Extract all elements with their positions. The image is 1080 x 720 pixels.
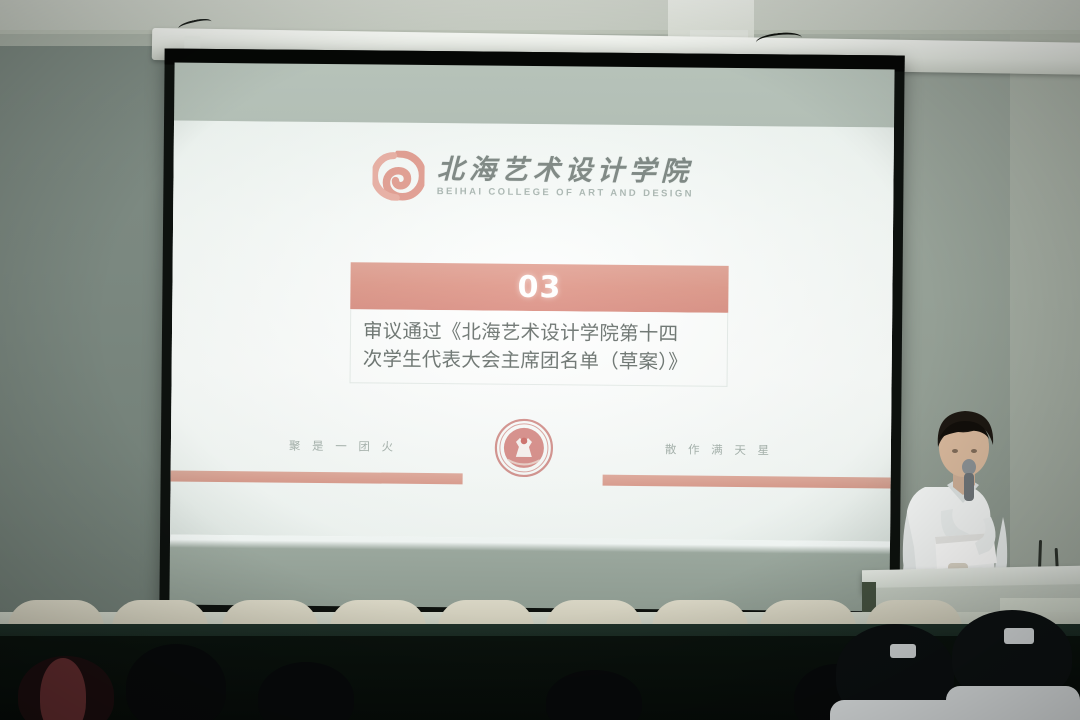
audience-shirt: [946, 686, 1080, 720]
audience-head: [258, 662, 354, 720]
section-title-text: 审议通过《北海艺术设计学院第十四 次学生代表大会主席团名单（草案）》: [363, 317, 716, 376]
audience-head: [546, 670, 642, 720]
section-number-bar: 03: [350, 262, 728, 313]
hair-clip-icon: [890, 644, 916, 658]
footer-accent-bar-left: [171, 471, 463, 485]
section-number: 03: [517, 270, 561, 305]
beihai-swirl-logo-icon: [373, 150, 425, 200]
hair-clip-icon: [1004, 628, 1034, 644]
section-title-box: 审议通过《北海艺术设计学院第十四 次学生代表大会主席团名单（草案）》: [350, 309, 729, 387]
wall-left: [0, 0, 175, 660]
footer-accent-bar-right: [603, 475, 891, 489]
audience-shirt: [830, 700, 960, 720]
projection-screen: 北海艺术设计学院 BEIHAI COLLEGE OF ART AND DESIG…: [159, 48, 904, 621]
school-logo: 北海艺术设计学院 BEIHAI COLLEGE OF ART AND DESIG…: [173, 149, 893, 206]
logo-english-name: BEIHAI COLLEGE OF ART AND DESIGN: [437, 186, 694, 199]
audience-head: [126, 644, 226, 720]
footer-slogan-right: 散 作 满 天 星: [665, 441, 773, 458]
logo-text: 北海艺术设计学院 BEIHAI COLLEGE OF ART AND DESIG…: [437, 156, 695, 199]
student-union-emblem-icon: [494, 418, 555, 479]
presentation-slide: 北海艺术设计学院 BEIHAI COLLEGE OF ART AND DESIG…: [170, 121, 894, 542]
logo-chinese-name: 北海艺术设计学院: [437, 156, 694, 185]
auditorium-scene: 北海艺术设计学院 BEIHAI COLLEGE OF ART AND DESIG…: [0, 0, 1080, 720]
footer-slogan-left: 聚 是 一 团 火: [289, 438, 397, 455]
section-title-block: 03 审议通过《北海艺术设计学院第十四 次学生代表大会主席团名单（草案）》: [350, 262, 729, 387]
